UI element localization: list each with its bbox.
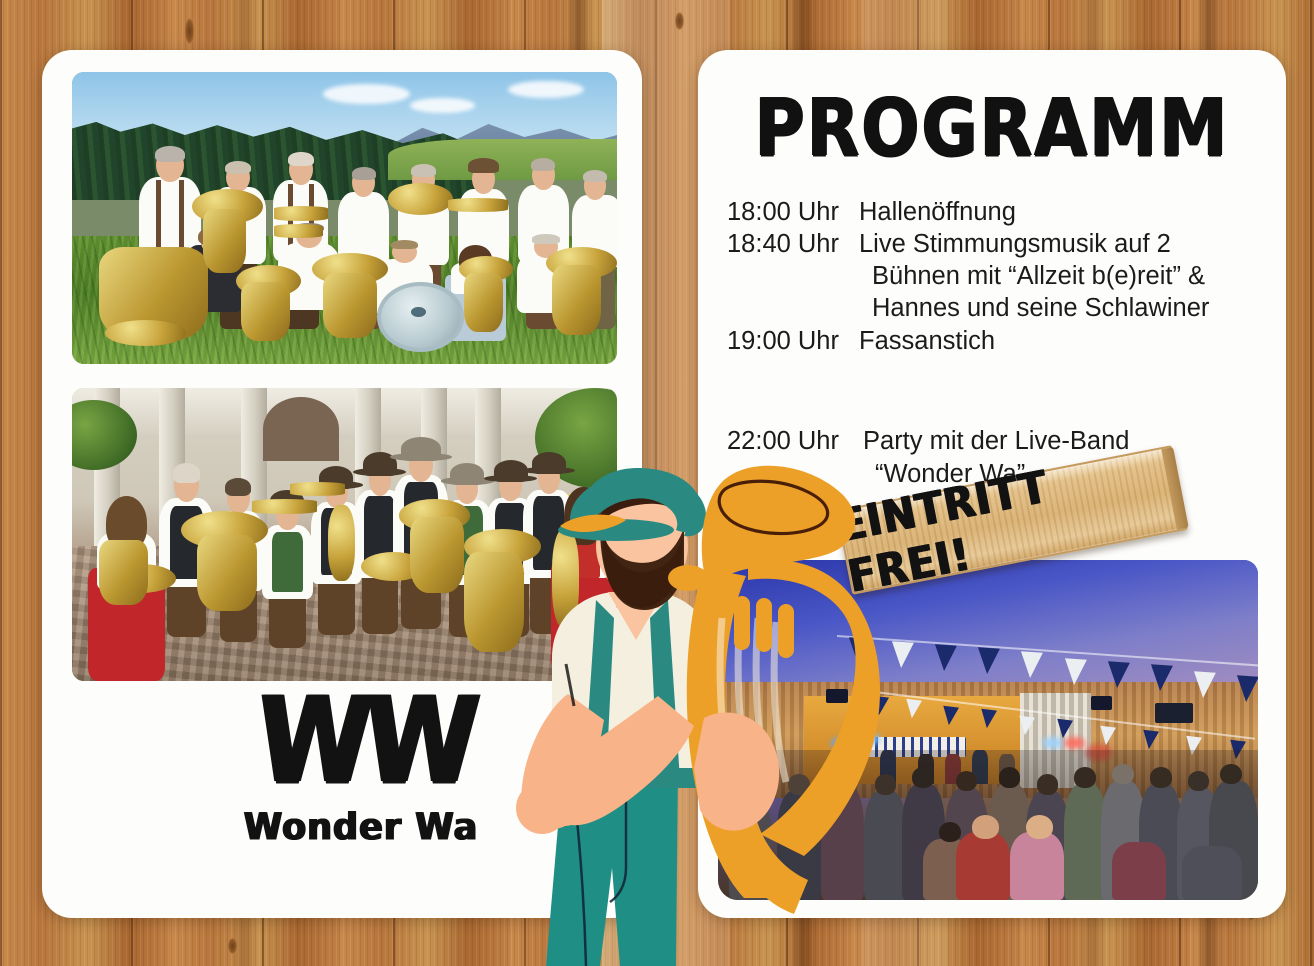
band-logo-name: Wonder Wa [236,806,486,848]
tuba [687,466,880,914]
tuba-player-svg [508,468,868,966]
schedule-time: 19:00 Uhr [727,325,859,357]
photo-brass-band-alpine-meadow [72,72,617,364]
wood-knot [185,18,194,44]
schedule-row: 22:00 Uhr Party mit der Live-Band [727,425,1287,458]
schedule-desc: Live Stimmungsmusik auf 2 [859,228,1279,260]
page-title: PROGRAMM [692,82,1292,174]
schedule-desc-continuation: Hannes und seine Schlawiner [727,292,1279,324]
left-hand-front [536,770,592,826]
wood-knot [675,12,684,30]
schedule-time: 18:40 Uhr [727,228,859,260]
schedule-desc: Hallenöffnung [859,196,1279,228]
schedule-time: 18:00 Uhr [727,196,859,228]
right-hand [710,760,770,820]
wood-knot [228,938,237,954]
band-logo: WW Wonder Wa [236,700,486,848]
tuba-player-illustration [508,468,868,966]
schedule-row: 18:00 Uhr Hallenöffnung [727,196,1279,228]
schedule-row: 19:00 Uhr Fassanstich [727,325,1279,357]
schedule-desc-continuation: Bühnen mit “Allzeit b(e)reit” & [727,260,1279,292]
band-logo-mark: WW [236,687,493,796]
schedule-desc: Fassanstich [859,325,1279,357]
schedule-desc: Party mit der Live-Band [863,425,1287,458]
schedule-time: 22:00 Uhr [727,425,863,458]
schedule-list: 18:00 Uhr Hallenöffnung 18:40 Uhr Live S… [727,196,1279,357]
schedule-row: 18:40 Uhr Live Stimmungsmusik auf 2 [727,228,1279,260]
